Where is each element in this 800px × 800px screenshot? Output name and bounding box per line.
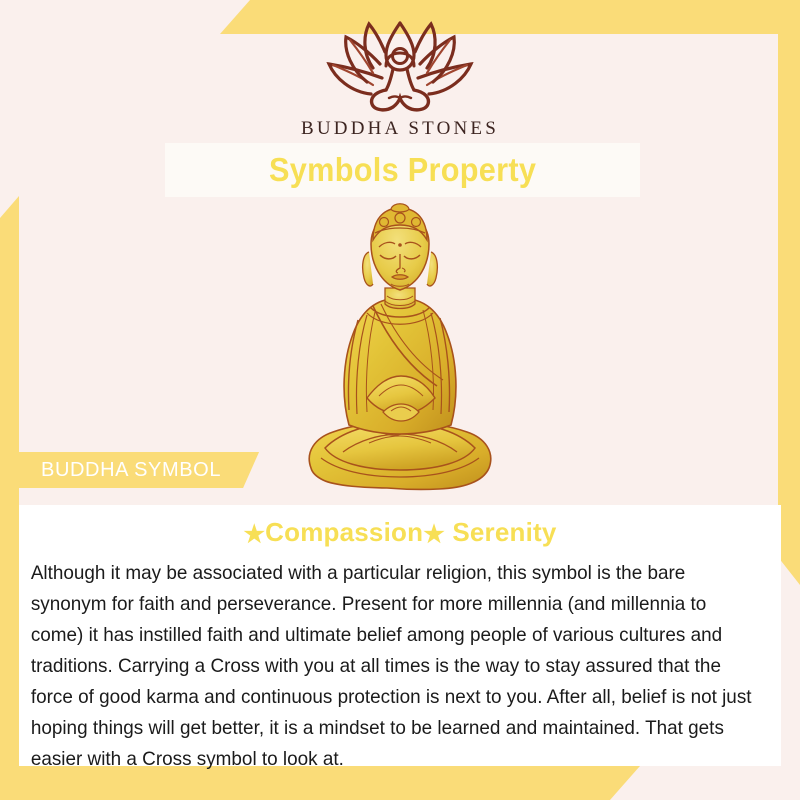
- brand-wordmark: BUDDHA STONES: [0, 118, 800, 140]
- frame-band-left: [0, 196, 19, 800]
- title-banner: Symbols Property: [165, 143, 640, 197]
- star-icon-1: ★: [243, 521, 265, 548]
- content-subheading: ★Compassion★ Serenity: [19, 517, 781, 548]
- section-ribbon-label: BUDDHA SYMBOL: [41, 459, 221, 482]
- star-icon-2: ★: [423, 521, 445, 548]
- subheading-first: Compassion: [265, 517, 423, 547]
- content-panel: ★Compassion★ Serenity Although it may be…: [19, 505, 781, 766]
- subheading-second: Serenity: [452, 517, 556, 547]
- content-paragraph: Although it may be associated with a par…: [19, 558, 770, 775]
- page-title: Symbols Property: [269, 151, 536, 189]
- hero-image: [295, 200, 505, 492]
- lotus-meditation-icon: [325, 20, 475, 112]
- seated-buddha-meditation-icon: [295, 200, 505, 492]
- section-ribbon: BUDDHA SYMBOL: [19, 452, 259, 488]
- brand-logo: BUDDHA STONES: [0, 20, 800, 140]
- promo-banner-page: BUDDHA STONES Symbols Property: [0, 0, 800, 800]
